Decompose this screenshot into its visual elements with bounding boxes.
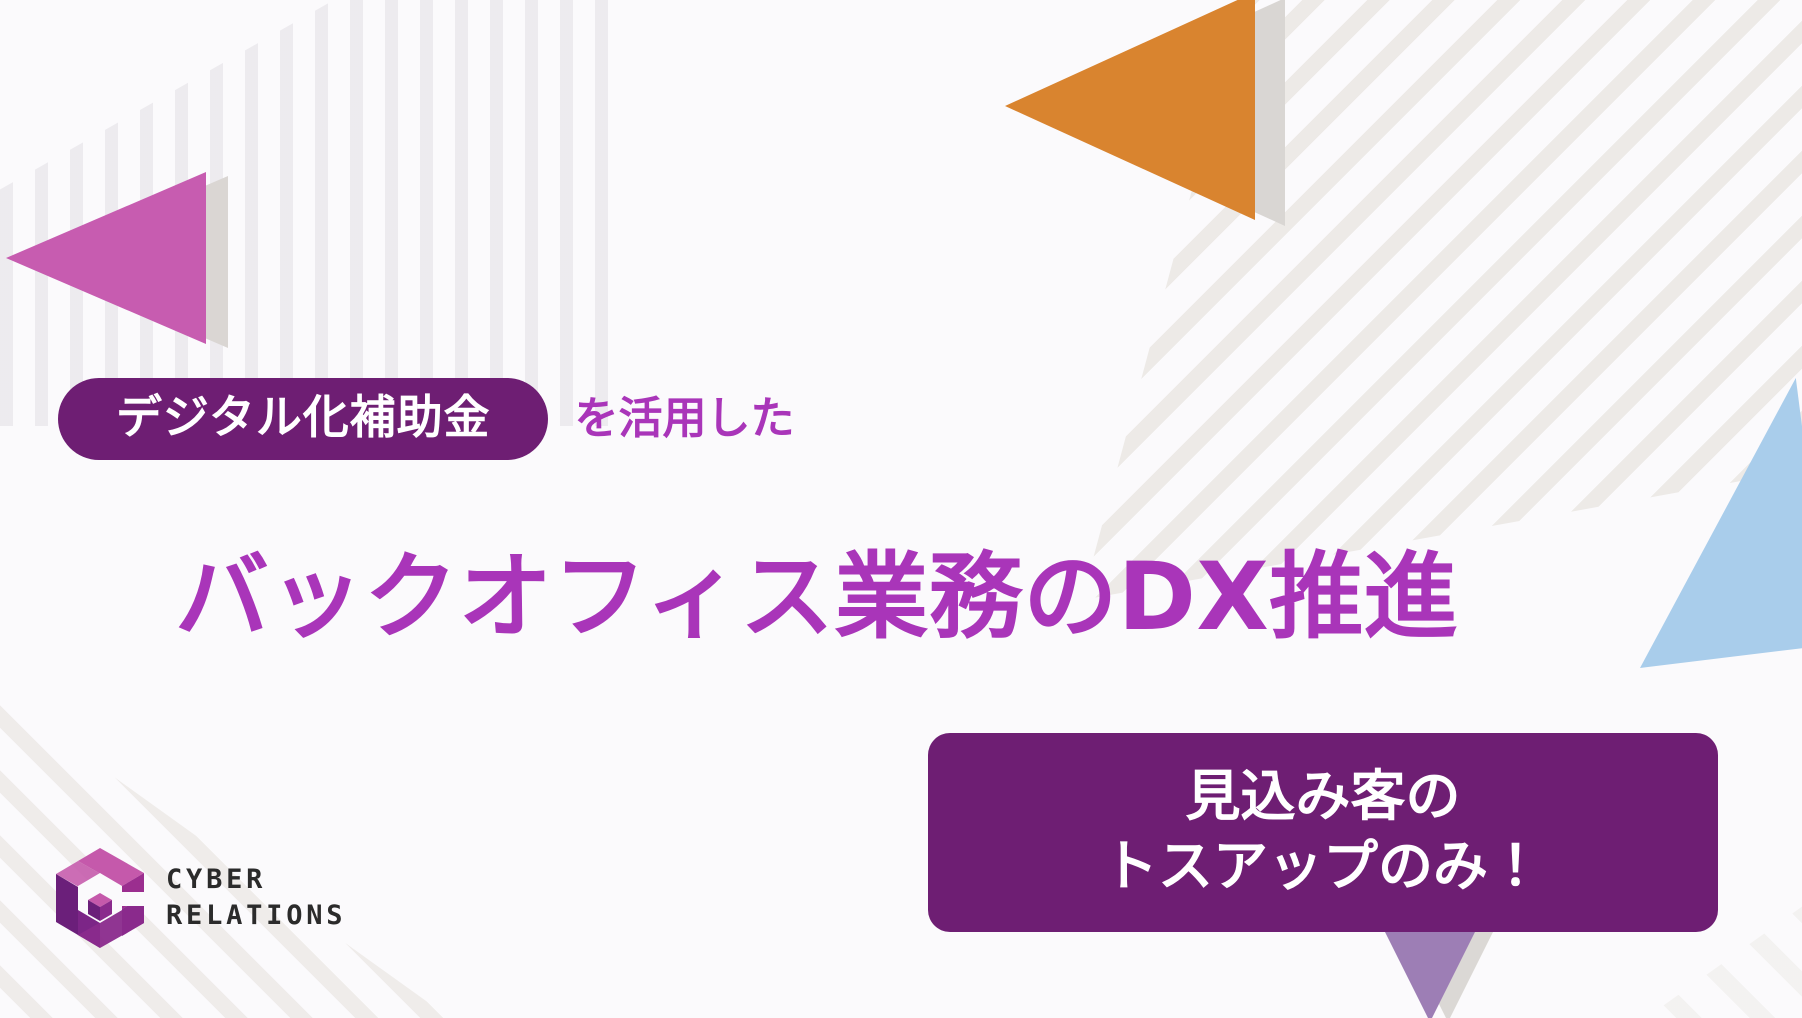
callout-line-1: 見込み客の bbox=[948, 761, 1698, 831]
logo-line-cyber: CYBER bbox=[166, 862, 346, 898]
logo-wordmark: CYBER RELATIONS bbox=[166, 862, 346, 935]
company-logo: CYBER RELATIONS bbox=[52, 846, 346, 950]
subsidy-pill-badge: デジタル化補助金 bbox=[58, 378, 548, 460]
callout-line-2: トスアップのみ！ bbox=[948, 831, 1698, 901]
callout-box: 見込み客の トスアップのみ！ bbox=[928, 733, 1718, 932]
eyebrow-row: デジタル化補助金 を活用した bbox=[58, 378, 794, 460]
logo-line-relations: RELATIONS bbox=[166, 898, 346, 934]
eyebrow-suffix-text: を活用した bbox=[574, 397, 794, 441]
promotional-banner: デジタル化補助金 を活用した バックオフィス業務のDX推進 見込み客の トスアッ… bbox=[0, 0, 1802, 1018]
page-title: バックオフィス業務のDX推進 bbox=[175, 543, 1458, 654]
cyber-relations-c-mark-icon bbox=[52, 846, 148, 950]
banner-content: デジタル化補助金 を活用した バックオフィス業務のDX推進 見込み客の トスアッ… bbox=[0, 0, 1802, 1018]
